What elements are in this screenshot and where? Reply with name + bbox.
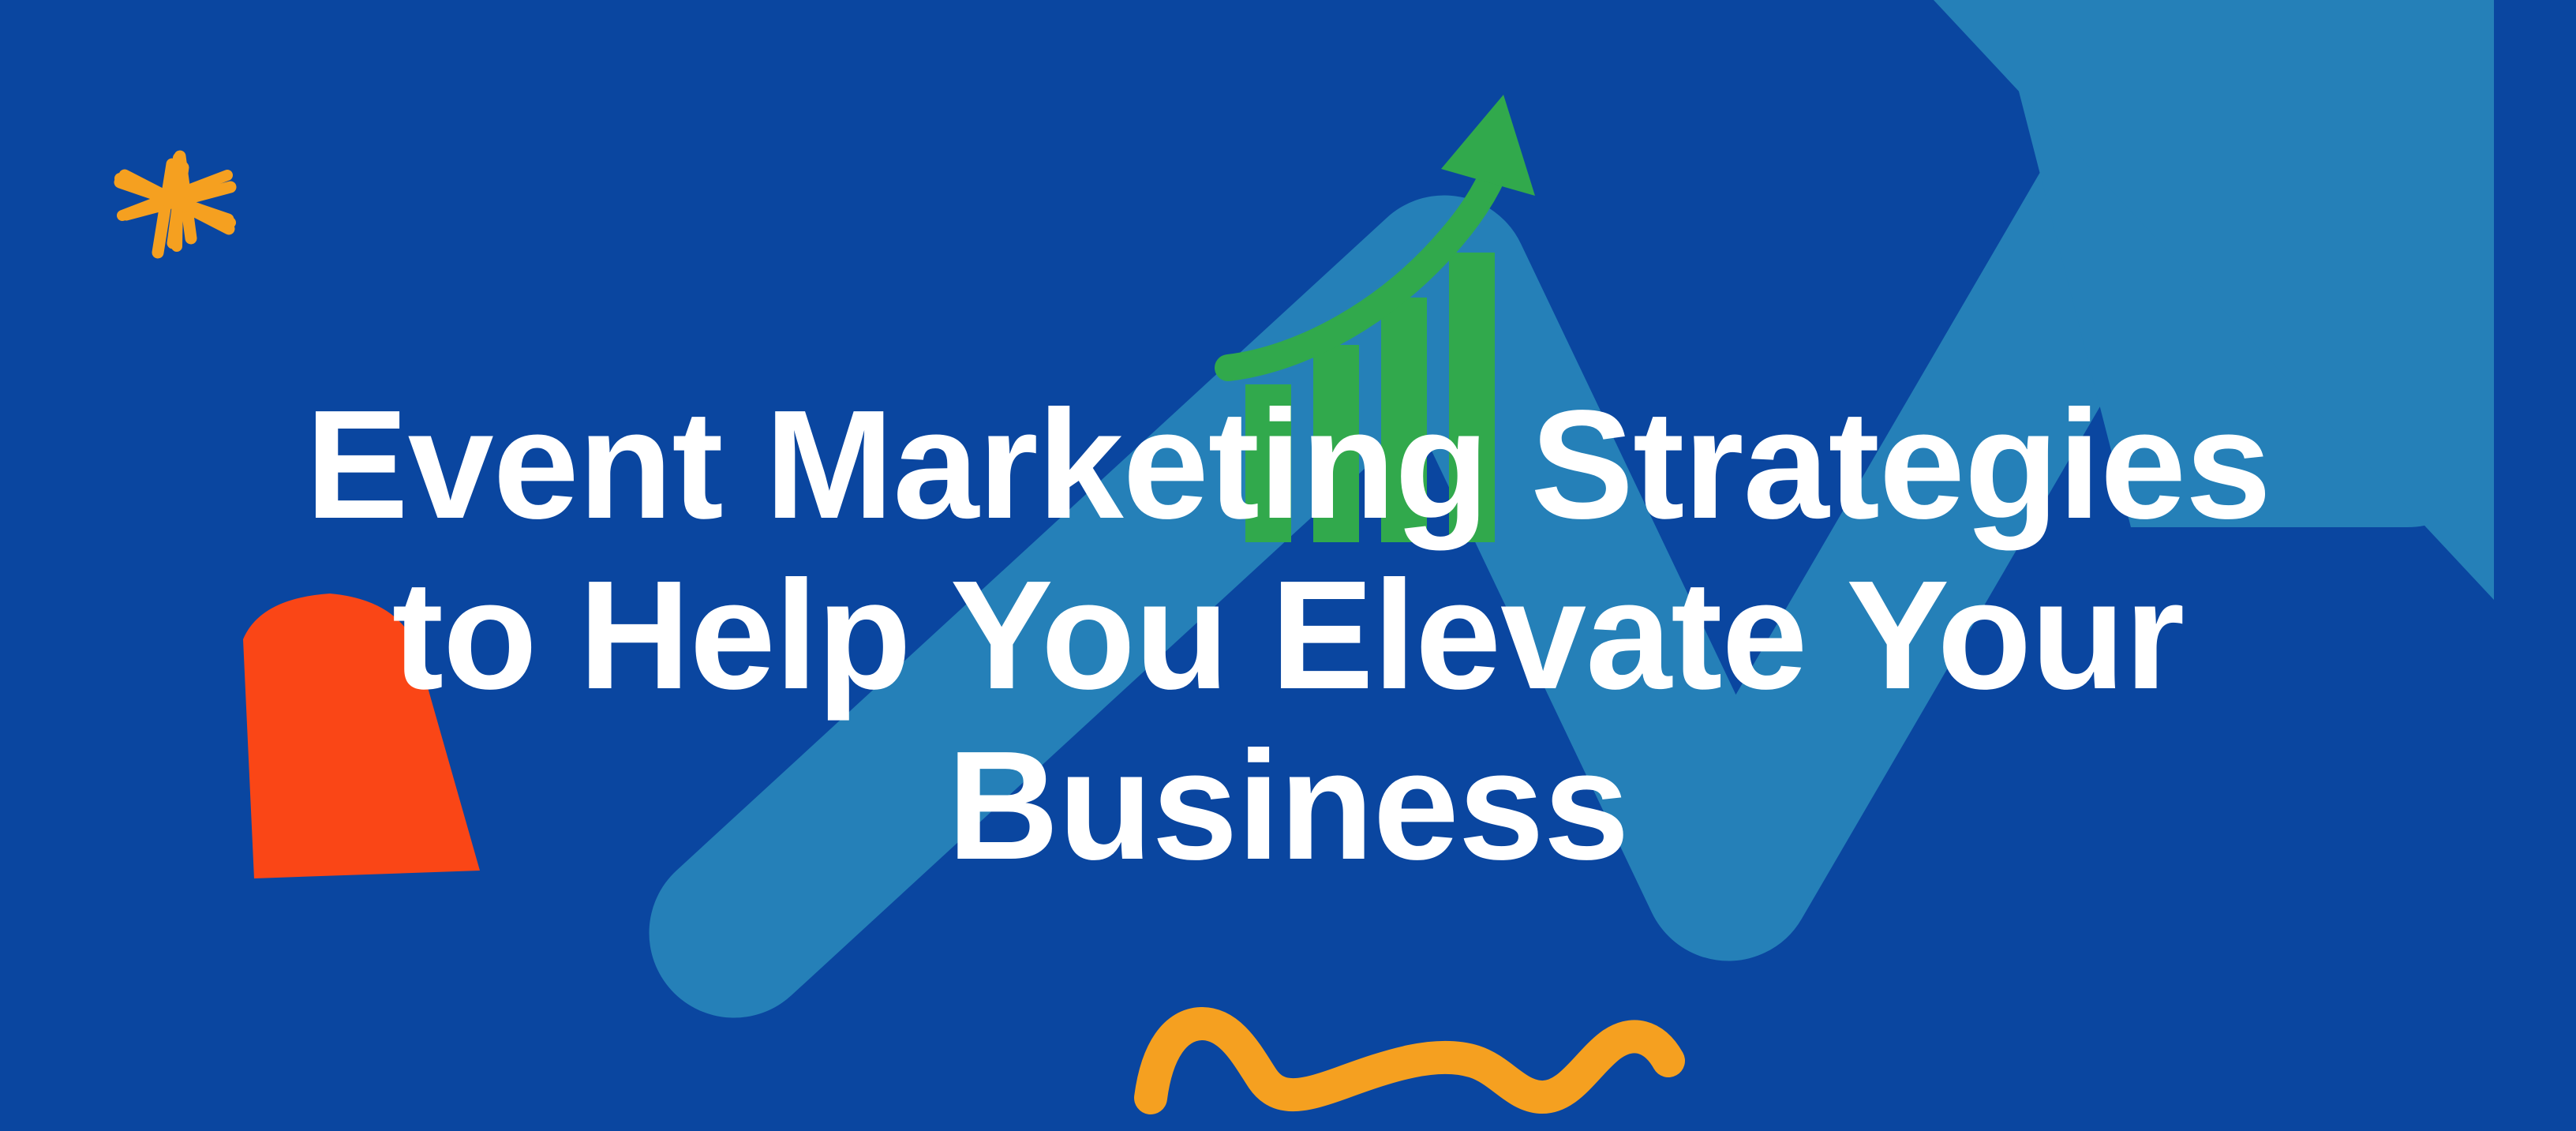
headline-line-3: Business xyxy=(947,745,1628,867)
headline-line-1: Event Marketing Strategies xyxy=(305,404,2271,526)
headline-block: Event Marketing Strategies to Help You E… xyxy=(0,0,2576,1131)
headline-line-2: to Help You Elevate Your xyxy=(392,575,2184,696)
blog-header-banner: Event Marketing Strategies to Help You E… xyxy=(0,0,2576,1131)
